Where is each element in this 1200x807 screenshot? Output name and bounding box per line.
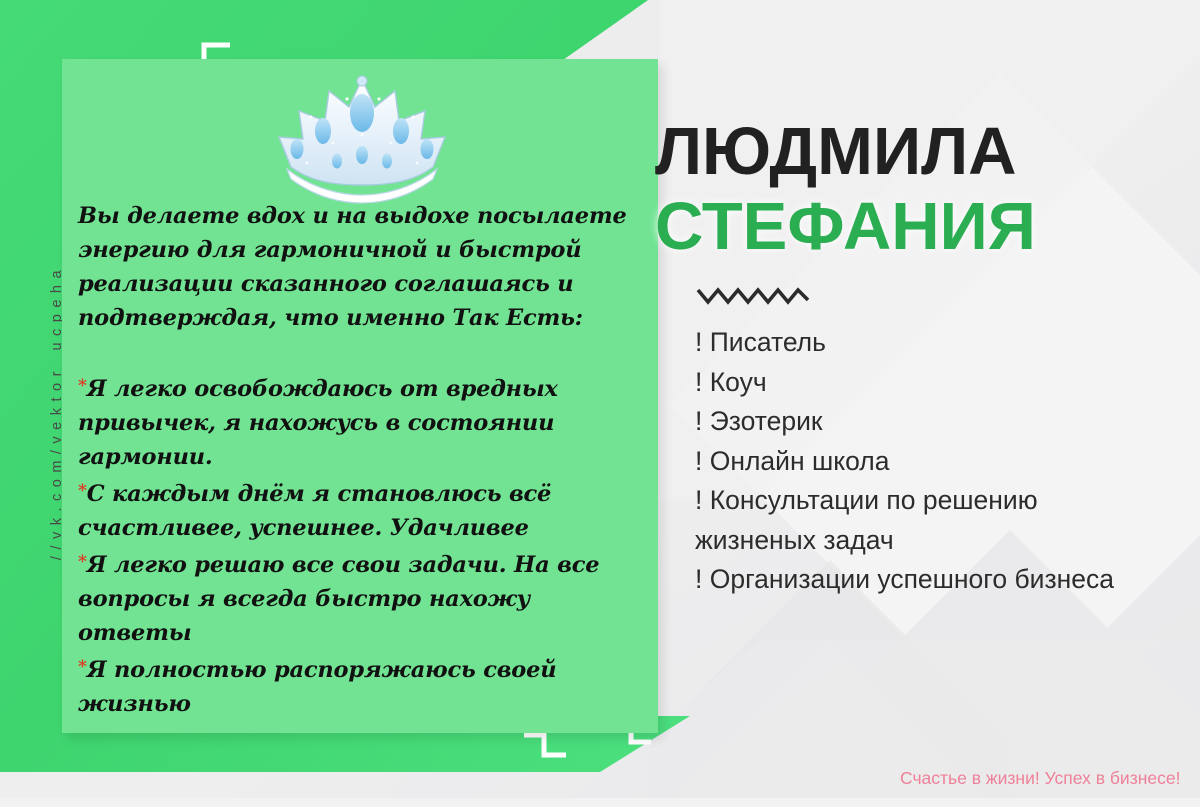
role-item: ! Коуч: [695, 363, 1165, 403]
footer-tagline: Счастье в жизни! Успех в бизнесе!: [900, 768, 1180, 789]
bullet-star-icon: *: [78, 376, 87, 396]
affirmation-item: *С каждым днём я становлюсь всё счастлив…: [78, 474, 648, 545]
role-item: ! Консультации по решению жизненых задач: [695, 481, 1165, 560]
affirmation-intro: Вы делаете вдох и на выдохе посылаете эн…: [78, 199, 648, 335]
role-item: ! Организации успешного бизнеса: [695, 560, 1165, 600]
affirmation-item: *Я легко освобождаюсь от вредных привыче…: [78, 369, 648, 474]
affirmation-item: *Я полностью распоряжаюсь своей жизнью: [78, 650, 648, 721]
bullet-star-icon: *: [78, 481, 87, 501]
profile-last-name: СТЕФАНИЯ: [655, 193, 1036, 260]
affirmation-text: Я полностью распоряжаюсь своей жизнью: [78, 657, 556, 717]
role-item: ! Писатель: [695, 323, 1165, 363]
affirmation-text: С каждым днём я становлюсь всё счастливе…: [78, 481, 551, 541]
affirmation-text: Я легко освобождаюсь от вредных привычек…: [78, 376, 558, 470]
affirmation-item: *Я легко решаю все свои задачи. На все в…: [78, 545, 648, 650]
bullet-star-icon: *: [78, 657, 87, 677]
role-item: ! Онлайн школа: [695, 442, 1165, 482]
affirmation-card: Вы делаете вдох и на выдохе посылаете эн…: [62, 59, 658, 733]
poster-canvas: //vk.com/vektor_ucpeha: [0, 0, 1200, 807]
affirmation-text: Я легко решаю все свои задачи. На все во…: [78, 552, 599, 646]
bottom-strip: [0, 798, 1200, 807]
role-item: ! Эзотерик: [695, 402, 1165, 442]
affirmation-list: *Я легко освобождаюсь от вредных привыче…: [78, 369, 648, 721]
step-ornament-bottom-icon: [522, 729, 568, 763]
card-text-block: Вы делаете вдох и на выдохе посылаете эн…: [78, 199, 648, 721]
profile-first-name: ЛЮДМИЛА: [655, 118, 1017, 185]
bullet-star-icon: *: [78, 552, 87, 572]
profile-panel: ЛЮДМИЛА СТЕФАНИЯ ! Писатель ! Коуч ! Эзо…: [655, 0, 1200, 807]
profile-roles-list: ! Писатель ! Коуч ! Эзотерик ! Онлайн шк…: [695, 323, 1165, 600]
tiara-crown-icon: [267, 73, 457, 208]
zigzag-divider-icon: [695, 278, 825, 314]
